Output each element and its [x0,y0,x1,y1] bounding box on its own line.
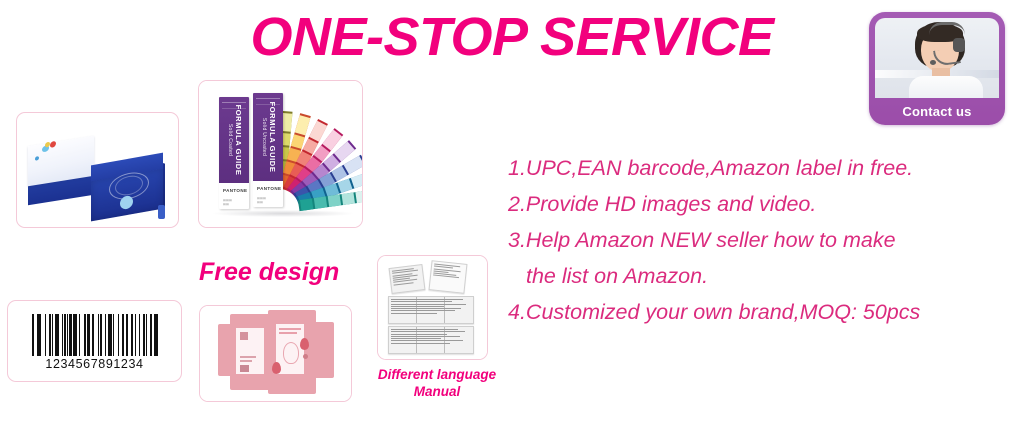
manual-booklet-2 [429,260,468,294]
pantone-subtitle-text-1: Solid Coated [225,105,234,176]
dieline-marker-bottom [272,362,281,374]
manual-folded-2 [388,326,474,354]
gift-box-pull-tab [158,205,165,219]
barcode-number: 1234567891234 [8,357,181,371]
gift-box-lid-artwork [28,140,54,162]
headset-mic-tip-icon [930,60,936,65]
free-design-caption: Free design [199,258,359,287]
contact-us-badge[interactable]: Contact us [869,12,1005,125]
pantone-brand-2: PANTONE [257,186,281,191]
pantone-book-title-2: FORMULA GUIDE Solid Uncoated [259,102,277,173]
service-item-2: 2.Provide HD images and video. [508,186,1020,222]
pantone-drop-shadow [213,210,353,217]
manual-caption-line-1: Different language [352,366,522,383]
gift-box-photo-card [16,112,179,228]
lid-dot-small-icon [35,156,39,161]
service-item-3: 3.Help Amazon NEW seller how to make [508,222,1020,258]
dieline-illustration [200,306,351,401]
one-stop-service-banner: ONE-STOP SERVICE 123456 [0,0,1024,427]
pantone-subtitle-text-2: Solid Uncoated [259,102,268,173]
pantone-brand-1: PANTONE [223,188,247,193]
service-list: 1.UPC,EAN barcode,Amazon label in free.2… [508,150,1020,330]
headset-band-icon [929,22,965,35]
pantone-book-solid-coated: FORMULA GUIDE Solid Coated PANTONE ▤▤▤▤▤ [219,97,249,209]
dieline-photo-card [199,305,352,402]
pantone-illustration: FORMULA GUIDE Solid Coated PANTONE ▤▤▤▤▤… [199,81,362,227]
service-item-5: 4.Customized your own brand,MOQ: 50pcs [508,294,1020,330]
dieline-print-panel-left [236,328,264,374]
pantone-book-cover: FORMULA GUIDE Solid Coated [219,97,249,183]
contact-us-label[interactable]: Contact us [875,98,999,125]
service-item-4: the list on Amazon. [508,258,1020,294]
pantone-color-fan-icon [277,93,363,215]
manual-text-lines [391,299,471,321]
lid-dot-red-icon [50,140,56,148]
manual-text-lines [432,263,464,290]
manual-photo-card [377,255,488,360]
manual-caption: Different language Manual [352,366,522,400]
dieline-flap-right [310,322,334,378]
manual-booklet-1 [389,264,426,294]
pantone-book-footer-1: ▤▤▤▤▤ [223,198,246,206]
support-agent-photo [875,18,999,98]
pantone-book-title-1: FORMULA GUIDE Solid Coated [225,105,243,176]
agent-shirt [909,76,983,98]
pantone-book-cover-2: FORMULA GUIDE Solid Uncoated [253,93,283,181]
barcode-label: 1234567891234 [8,301,181,381]
color-fan-svg [277,93,363,215]
pantone-title-text-2: FORMULA GUIDE [268,102,277,173]
barcode-bars-icon [32,314,160,356]
dieline-marker-top [300,338,309,350]
dieline-dot [303,354,308,359]
barcode-bar [158,314,160,356]
pantone-title-text-1: FORMULA GUIDE [234,105,243,176]
service-item-1: 1.UPC,EAN barcode,Amazon label in free. [508,150,1020,186]
manual-folded-1 [388,296,474,324]
manual-caption-line-2: Manual [352,383,522,400]
gift-box-illustration [17,113,178,227]
pantone-book-solid-uncoated: FORMULA GUIDE Solid Uncoated PANTONE ▤▤▤… [253,93,283,207]
pantone-book-footer-2: ▤▤▤▤▤ [257,196,280,204]
manual-text-lines [391,329,471,351]
pantone-guide-photo-card: FORMULA GUIDE Solid Coated PANTONE ▤▤▤▤▤… [198,80,363,228]
manual-text-lines [392,267,422,290]
barcode-photo-card: 1234567891234 [7,300,182,382]
manual-illustration [378,256,487,359]
